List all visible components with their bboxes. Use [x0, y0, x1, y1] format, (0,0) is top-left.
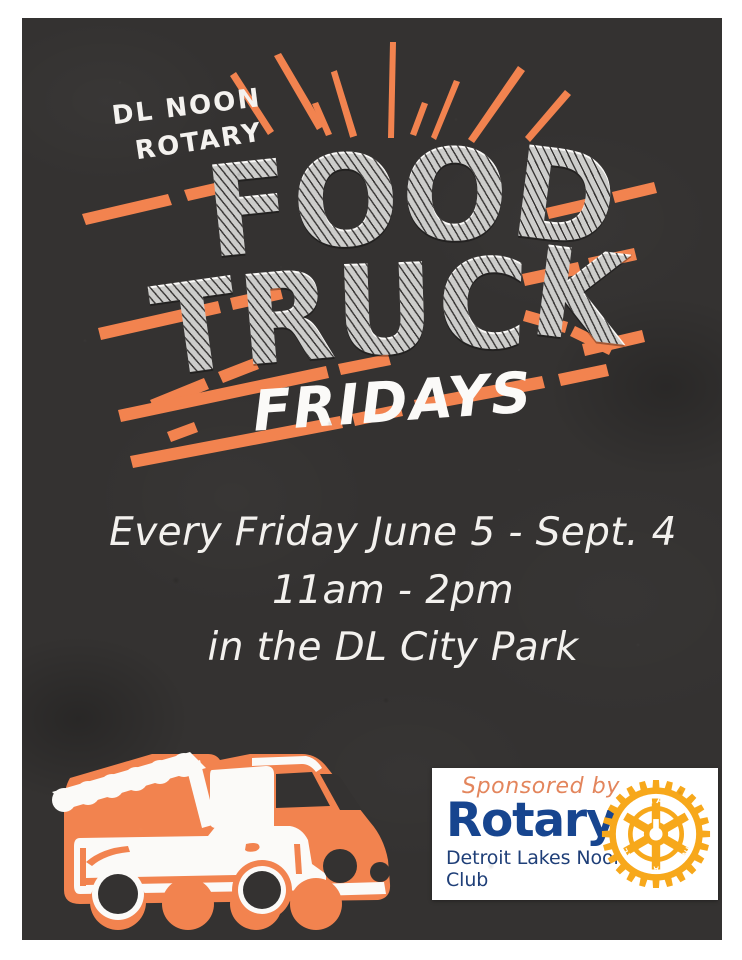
sponsor-text-block: Sponsored by Rotary Detroit Lakes Noon C…	[446, 774, 626, 891]
title-letter: K	[524, 235, 633, 360]
sponsor-card[interactable]: Sponsored by Rotary Detroit Lakes Noon C…	[432, 768, 718, 900]
rotary-wheel-icon: ROTARY INTERNATIONAL	[600, 778, 712, 890]
rotary-club-name: Detroit Lakes Noon Club	[446, 847, 626, 891]
event-details: Every Friday June 5 - Sept. 4 11am - 2pm…	[22, 504, 722, 677]
event-location: in the DL City Park	[22, 619, 722, 677]
event-times: 11am - 2pm	[22, 562, 722, 620]
chalkboard-background: DL NOON ROTARY FOOD TRUCK FRIDAYS Every …	[22, 18, 722, 940]
event-dates: Every Friday June 5 - Sept. 4	[22, 504, 722, 562]
poster-canvas: DL NOON ROTARY FOOD TRUCK FRIDAYS Every …	[0, 0, 742, 960]
title-word-truck: TRUCK	[150, 248, 626, 362]
food-truck-illustration	[40, 744, 420, 940]
title-letter: T	[146, 266, 246, 391]
poster-title: FOOD TRUCK	[22, 130, 722, 390]
rotary-wordmark: Rotary	[446, 797, 626, 845]
title-letter: R	[233, 258, 338, 380]
title-letter: U	[332, 252, 437, 370]
title-letter: C	[435, 246, 530, 363]
